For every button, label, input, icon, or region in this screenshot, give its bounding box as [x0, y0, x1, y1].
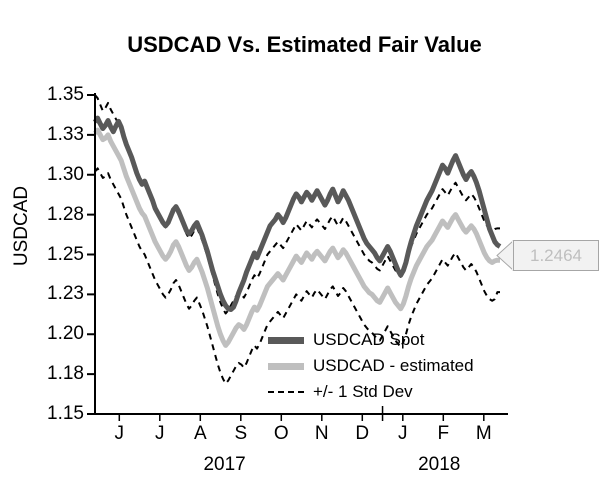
legend-item: +/- 1 Std Dev — [268, 379, 474, 405]
series-line — [95, 130, 500, 345]
legend-label: +/- 1 Std Dev — [313, 382, 413, 402]
legend-label: USDCAD Spot — [313, 330, 424, 350]
legend-swatch-icon — [268, 337, 304, 344]
callout-arrow-icon — [496, 240, 514, 271]
legend-item: USDCAD Spot — [268, 327, 474, 353]
value-callout: 1.2464 — [513, 240, 599, 271]
chart-container: USDCAD Vs. Estimated Fair Value USDCAD 1… — [0, 0, 609, 482]
legend-swatch-icon — [268, 363, 304, 370]
series-line — [95, 118, 500, 309]
legend-swatch-icon — [268, 391, 304, 393]
legend-label: USDCAD - estimated — [313, 356, 474, 376]
chart-legend: USDCAD SpotUSDCAD - estimated+/- 1 Std D… — [268, 327, 474, 405]
legend-item: USDCAD - estimated — [268, 353, 474, 379]
callout-value: 1.2464 — [530, 246, 582, 266]
